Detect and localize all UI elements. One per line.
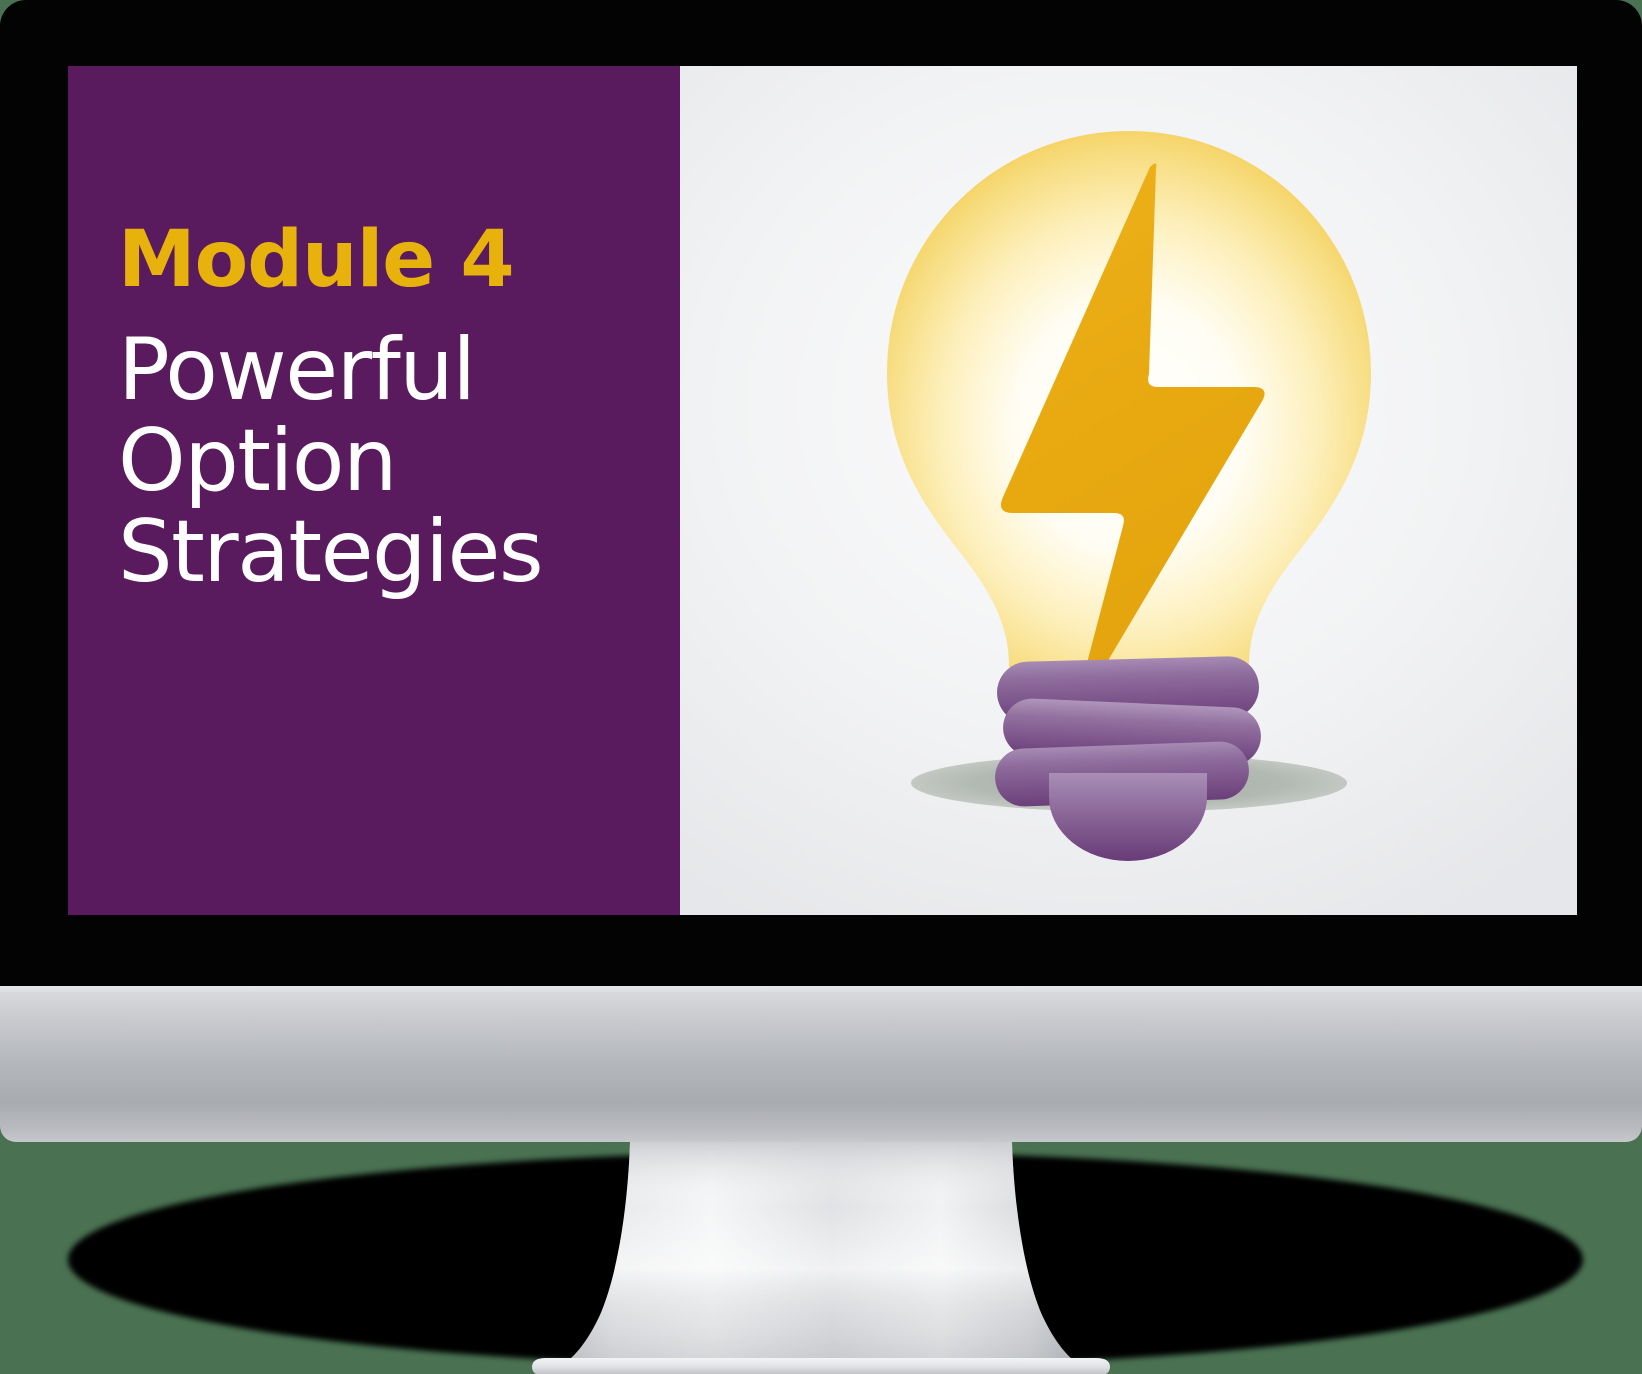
slide-left-panel: Module 4 Powerful Option Strategies	[68, 66, 680, 915]
slide-title-block: Module 4 Powerful Option Strategies	[118, 221, 678, 598]
module-label: Module 4	[118, 221, 678, 299]
bulb-screw-base	[994, 655, 1262, 860]
slide-right-panel	[680, 66, 1577, 915]
monitor-screen: Module 4 Powerful Option Strategies	[68, 66, 1577, 915]
screw-contact-cap	[1049, 773, 1207, 861]
slide-headline: Powerful Option Strategies	[118, 325, 678, 598]
lightbulb-icon	[869, 111, 1389, 871]
screenshot-stage: Module 4 Powerful Option Strategies	[0, 0, 1642, 1374]
headline-line-3: Strategies	[118, 507, 678, 598]
headline-line-1: Powerful	[118, 325, 678, 416]
monitor-base	[0, 982, 1642, 1142]
headline-line-2: Option	[118, 416, 678, 507]
